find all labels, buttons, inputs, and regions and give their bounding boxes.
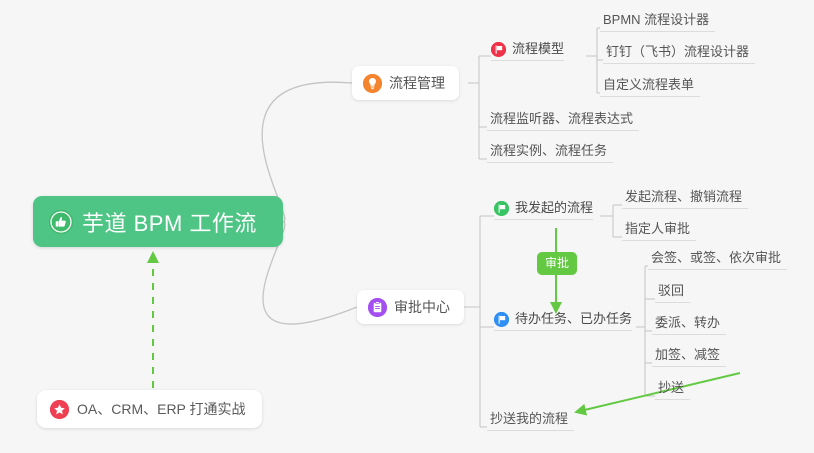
flag-icon — [491, 42, 506, 57]
flag-icon — [494, 201, 509, 216]
branch-label: 审批中心 — [394, 297, 450, 317]
note-card-label: OA、CRM、ERP 打通实战 — [77, 399, 246, 419]
node-wo-faqi-de-liucheng[interactable]: 我发起的流程 — [494, 200, 593, 220]
leaf-countersign[interactable]: 会签、或签、依次审批 — [648, 250, 787, 270]
note-card[interactable]: OA、CRM、ERP 打通实战 — [37, 390, 262, 428]
node-label: 待办任务、已办任务 — [515, 311, 632, 327]
leaf-listener-expression[interactable]: 流程监听器、流程表达式 — [487, 111, 639, 131]
leaf-reject[interactable]: 驳回 — [655, 283, 690, 303]
branch-node-shenpi-zhongxin[interactable]: 审批中心 — [357, 290, 464, 324]
branch-node-liucheng-guanli[interactable]: 流程管理 — [352, 66, 459, 100]
leaf-start-cancel-process[interactable]: 发起流程、撤销流程 — [622, 189, 748, 209]
flag-icon — [494, 312, 509, 327]
leaf-cc[interactable]: 抄送 — [655, 380, 690, 400]
leaf-bpmn-designer[interactable]: BPMN 流程设计器 — [600, 12, 715, 32]
branch-label: 流程管理 — [389, 73, 445, 93]
leaf-cc-to-me[interactable]: 抄送我的流程 — [487, 411, 574, 431]
root-node[interactable]: 芋道 BPM 工作流 — [33, 196, 283, 247]
leaf-custom-form[interactable]: 自定义流程表单 — [600, 77, 700, 97]
thumbs-up-icon — [49, 210, 73, 234]
node-liucheng-moxing[interactable]: 流程模型 — [491, 41, 564, 61]
leaf-dingding-designer[interactable]: 钉钉（飞书）流程设计器 — [603, 44, 755, 64]
leaf-assigned-approval[interactable]: 指定人审批 — [622, 221, 696, 241]
mindmap-canvas: 芋道 BPM 工作流 流程管理 流程模型 BPMN 流程设计器 钉钉（飞书）流程… — [0, 0, 814, 453]
star-icon — [50, 400, 69, 419]
leaf-delegate-transfer[interactable]: 委派、转办 — [652, 315, 726, 335]
approval-badge: 审批 — [537, 252, 577, 275]
leaf-instance-task[interactable]: 流程实例、流程任务 — [487, 143, 613, 163]
leaf-add-remove-sign[interactable]: 加签、减签 — [652, 347, 726, 367]
root-label: 芋道 BPM 工作流 — [82, 206, 257, 238]
node-label: 我发起的流程 — [515, 200, 593, 216]
node-daiban-yiban-renwu[interactable]: 待办任务、已办任务 — [494, 311, 632, 331]
node-label: 流程模型 — [512, 41, 564, 57]
clipboard-icon — [368, 298, 387, 317]
lightbulb-icon — [363, 74, 382, 93]
